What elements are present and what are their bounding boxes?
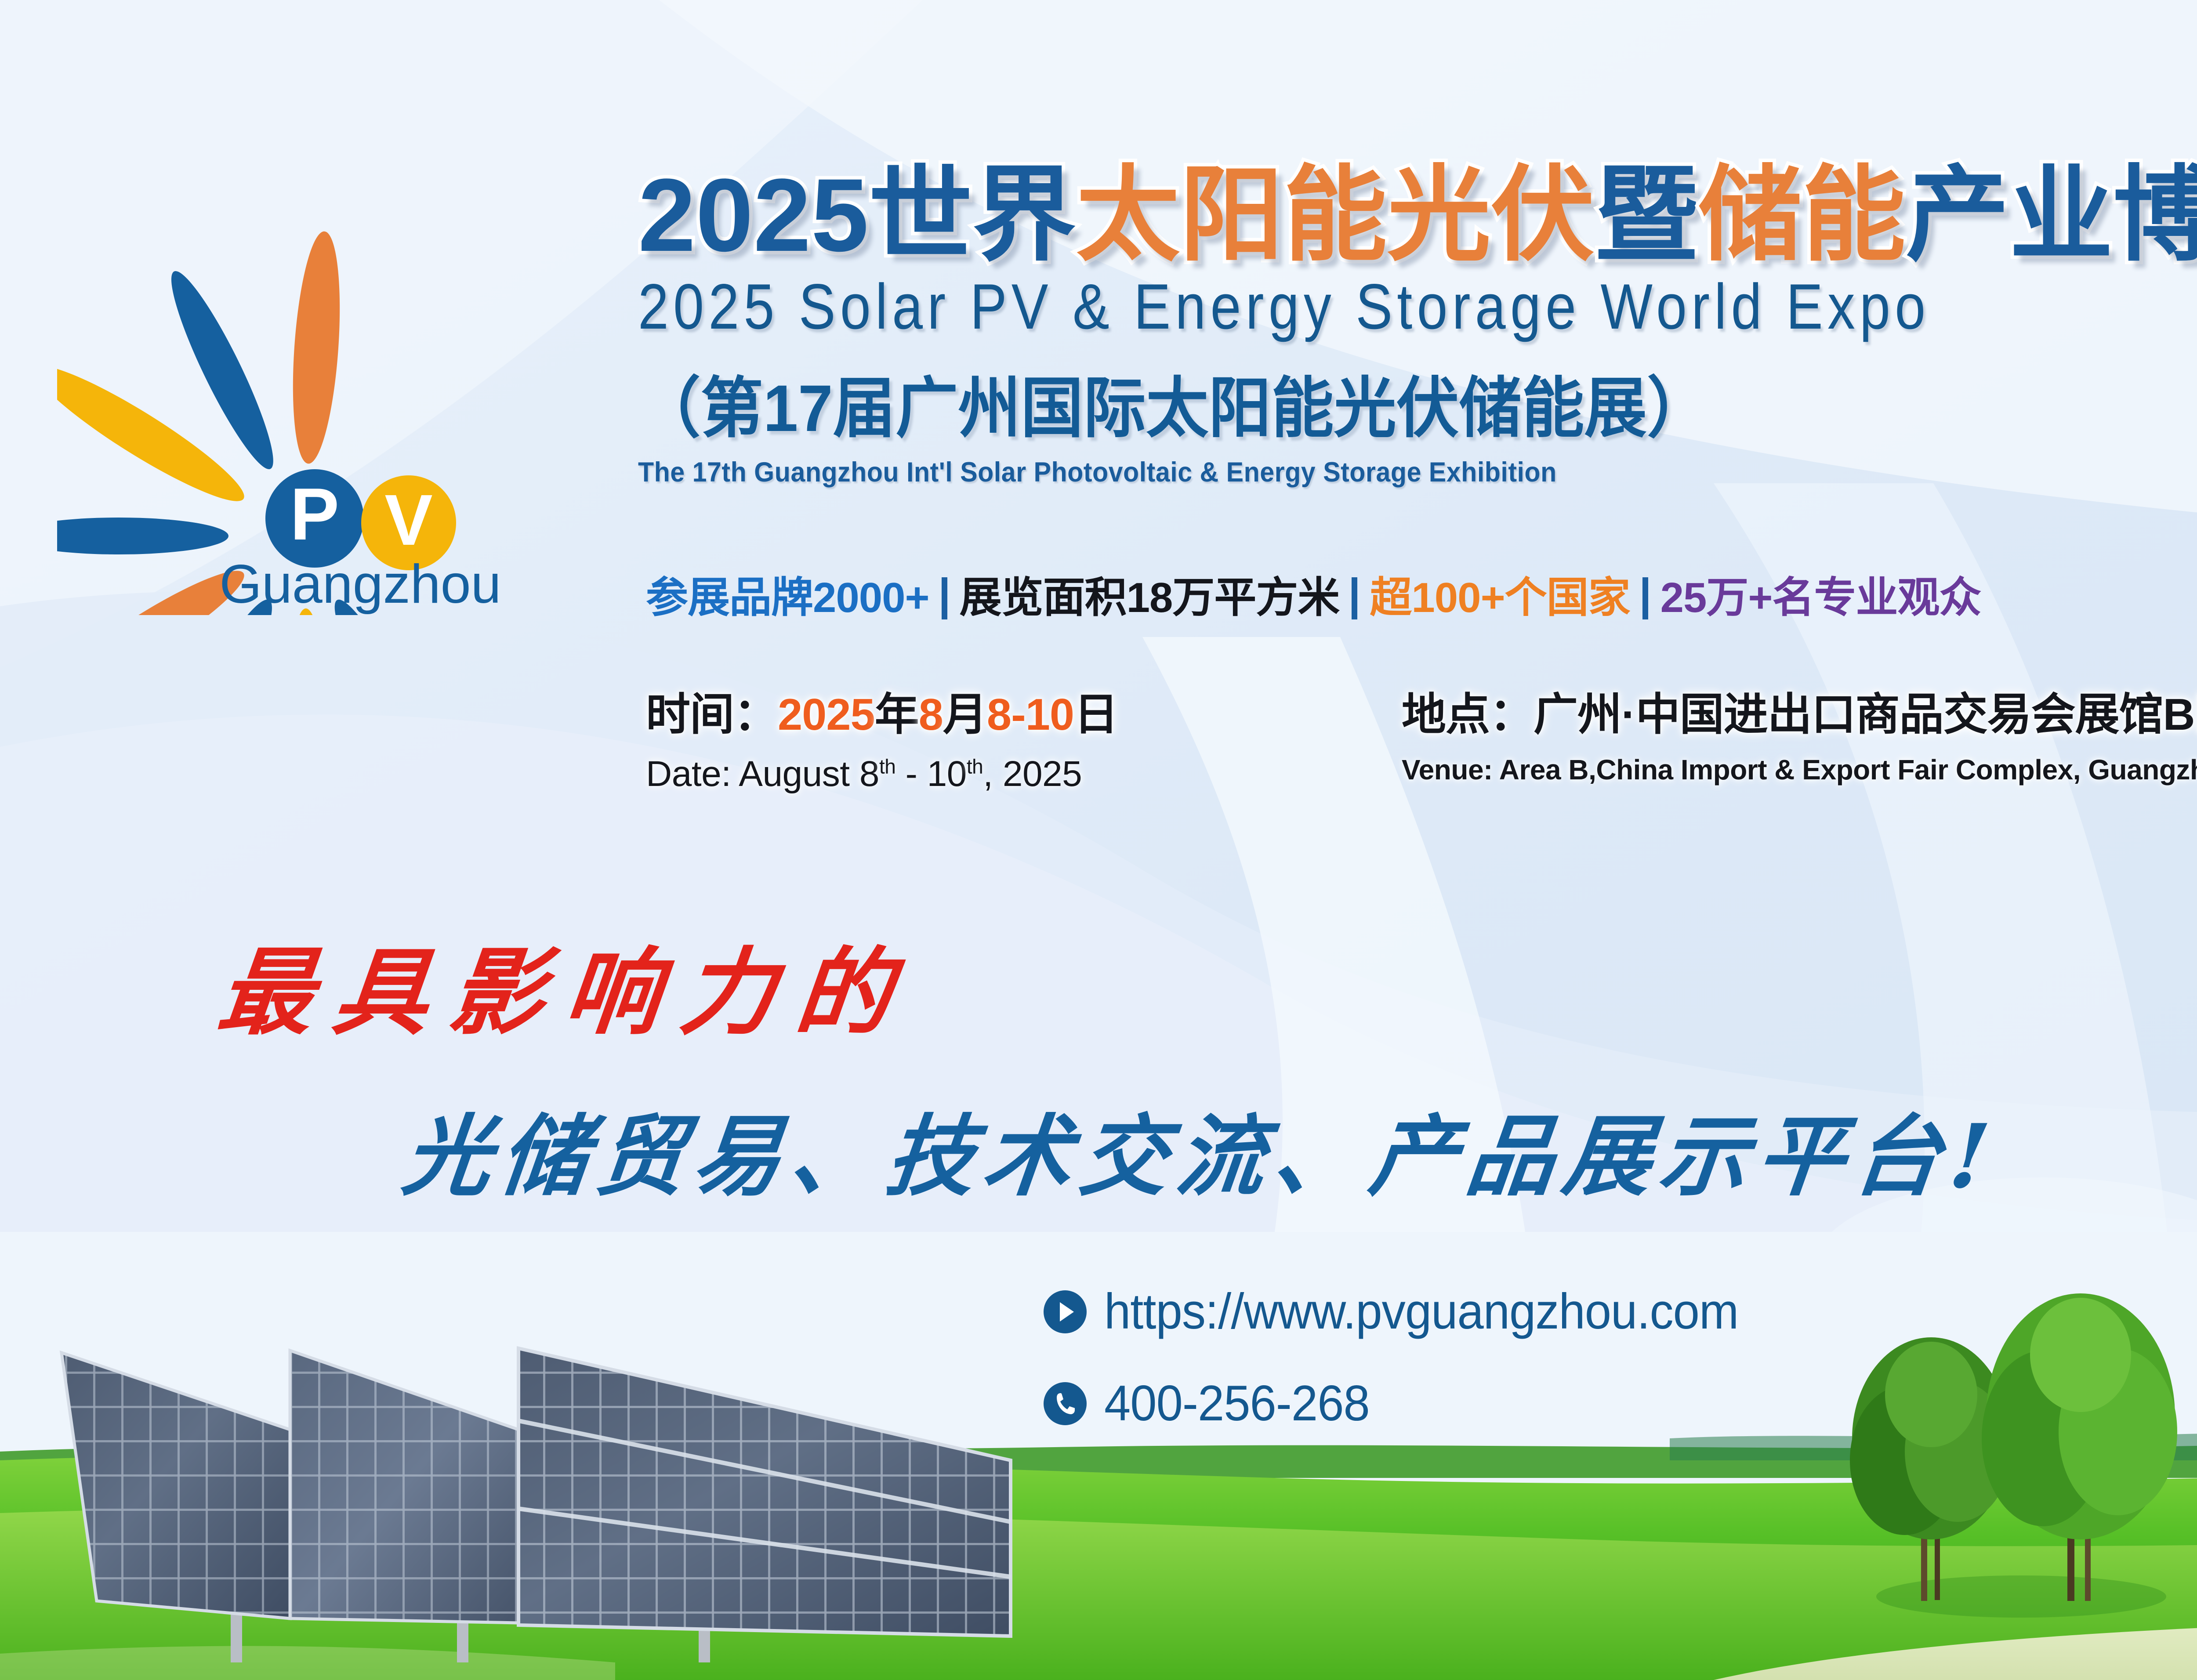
stat-exhibitor-brands: 参展品牌2000+: [646, 563, 929, 624]
date-line-english: Date: August 8th - 10th, 2025: [646, 753, 1402, 795]
stat-visitors: 25万+名专业观众: [1660, 563, 1981, 624]
subtitle-chinese-english: The 17th Guangzhou Int'l Solar Photovolt…: [638, 456, 2197, 488]
website-row[interactable]: https://www.pvguangzhou.com: [1044, 1283, 1772, 1340]
stat-countries: 超100+个国家: [1370, 563, 1630, 624]
website-url[interactable]: https://www.pvguangzhou.com: [1104, 1283, 1738, 1340]
logo-svg: P V Guangzhou: [57, 171, 576, 615]
main-title-seg-3: 储能: [1698, 157, 1906, 273]
date-month: 8: [919, 690, 943, 739]
logo-p-letter: P: [290, 473, 339, 555]
phone-number[interactable]: 400-256-268: [1104, 1375, 1370, 1432]
date-year-unit: 年: [875, 690, 919, 739]
main-title-seg-4: 产业博览会: [1906, 157, 2197, 273]
phone-row[interactable]: 400-256-268: [1044, 1375, 1772, 1432]
stat-exhibition-area: 展览面积18万平方米: [960, 563, 1340, 624]
play-arrow-glyph: [1052, 1299, 1078, 1325]
play-arrow-icon: [1044, 1290, 1087, 1333]
event-banner: P V Guangzhou 2025世界太阳能光伏暨储能产业博览会 2025 S…: [0, 0, 2197, 1680]
slogan-line-2: 光储贸易、技术交流、产品展示平台!: [398, 1085, 2005, 1213]
stat-separator: [1642, 577, 1648, 619]
solar-panel-array: [9, 1337, 1055, 1662]
main-title-seg-0: 2025世界: [638, 157, 1076, 273]
main-title-seg-1: 太阳能光伏: [1076, 157, 1595, 273]
phone-glyph: [1052, 1390, 1078, 1417]
date-en-pre: Date: August 8: [646, 754, 879, 794]
date-en-sup1: th: [879, 755, 895, 778]
date-column: 时间：2025年8月8-10日 Date: August 8th - 10th,…: [646, 679, 1402, 795]
subtitle-english: 2025 Solar PV & Energy Storage World Exp…: [638, 270, 2197, 344]
logo-wordmark: Guangzhou: [219, 554, 501, 615]
date-year: 2025: [778, 690, 875, 739]
date-day-unit: 日: [1074, 690, 1118, 739]
venue-line-chinese: 地点：广州·中国进出口商品交易会展馆B区: [1402, 679, 2197, 743]
contact-block: https://www.pvguangzhou.com 400-256-268: [1044, 1283, 1772, 1432]
subtitle-chinese: （第17届广州国际太阳能光伏储能展）: [638, 355, 2197, 450]
main-title: 2025世界太阳能光伏暨储能产业博览会: [638, 163, 2197, 267]
slogan-line-1: 最具影响力的: [213, 916, 921, 1053]
pv-guangzhou-logo: P V Guangzhou: [57, 171, 576, 615]
date-en-mid: - 10: [895, 754, 967, 794]
venue-label: 地点：: [1402, 690, 1534, 739]
stats-strip: 参展品牌2000+ 展览面积18万平方米 超100+个国家 25万+名专业观众: [646, 563, 1981, 624]
date-month-unit: 月: [943, 690, 987, 739]
stat-separator: [1352, 577, 1357, 619]
venue-value: 广州·中国进出口商品交易会展馆B区: [1534, 690, 2197, 739]
phone-icon: [1044, 1382, 1087, 1425]
date-label: 时间：: [646, 690, 778, 739]
venue-line-english: Venue: Area B,China Import & Export Fair…: [1402, 753, 2197, 786]
main-title-seg-2: 暨: [1595, 157, 1698, 273]
date-en-post: , 2025: [983, 754, 1082, 794]
title-block: 2025世界太阳能光伏暨储能产业博览会 2025 Solar PV & Ener…: [638, 163, 2197, 488]
stat-separator: [942, 577, 947, 619]
solar-panels-svg: [9, 1337, 1055, 1662]
venue-column: 地点：广州·中国进出口商品交易会展馆B区 Venue: Area B,China…: [1402, 679, 2197, 786]
date-line-chinese: 时间：2025年8月8-10日: [646, 679, 1402, 743]
date-venue-block: 时间：2025年8月8-10日 Date: August 8th - 10th,…: [646, 679, 2197, 795]
logo-v-letter: V: [384, 480, 432, 560]
date-en-sup2: th: [967, 755, 983, 778]
date-days: 8-10: [987, 690, 1074, 739]
